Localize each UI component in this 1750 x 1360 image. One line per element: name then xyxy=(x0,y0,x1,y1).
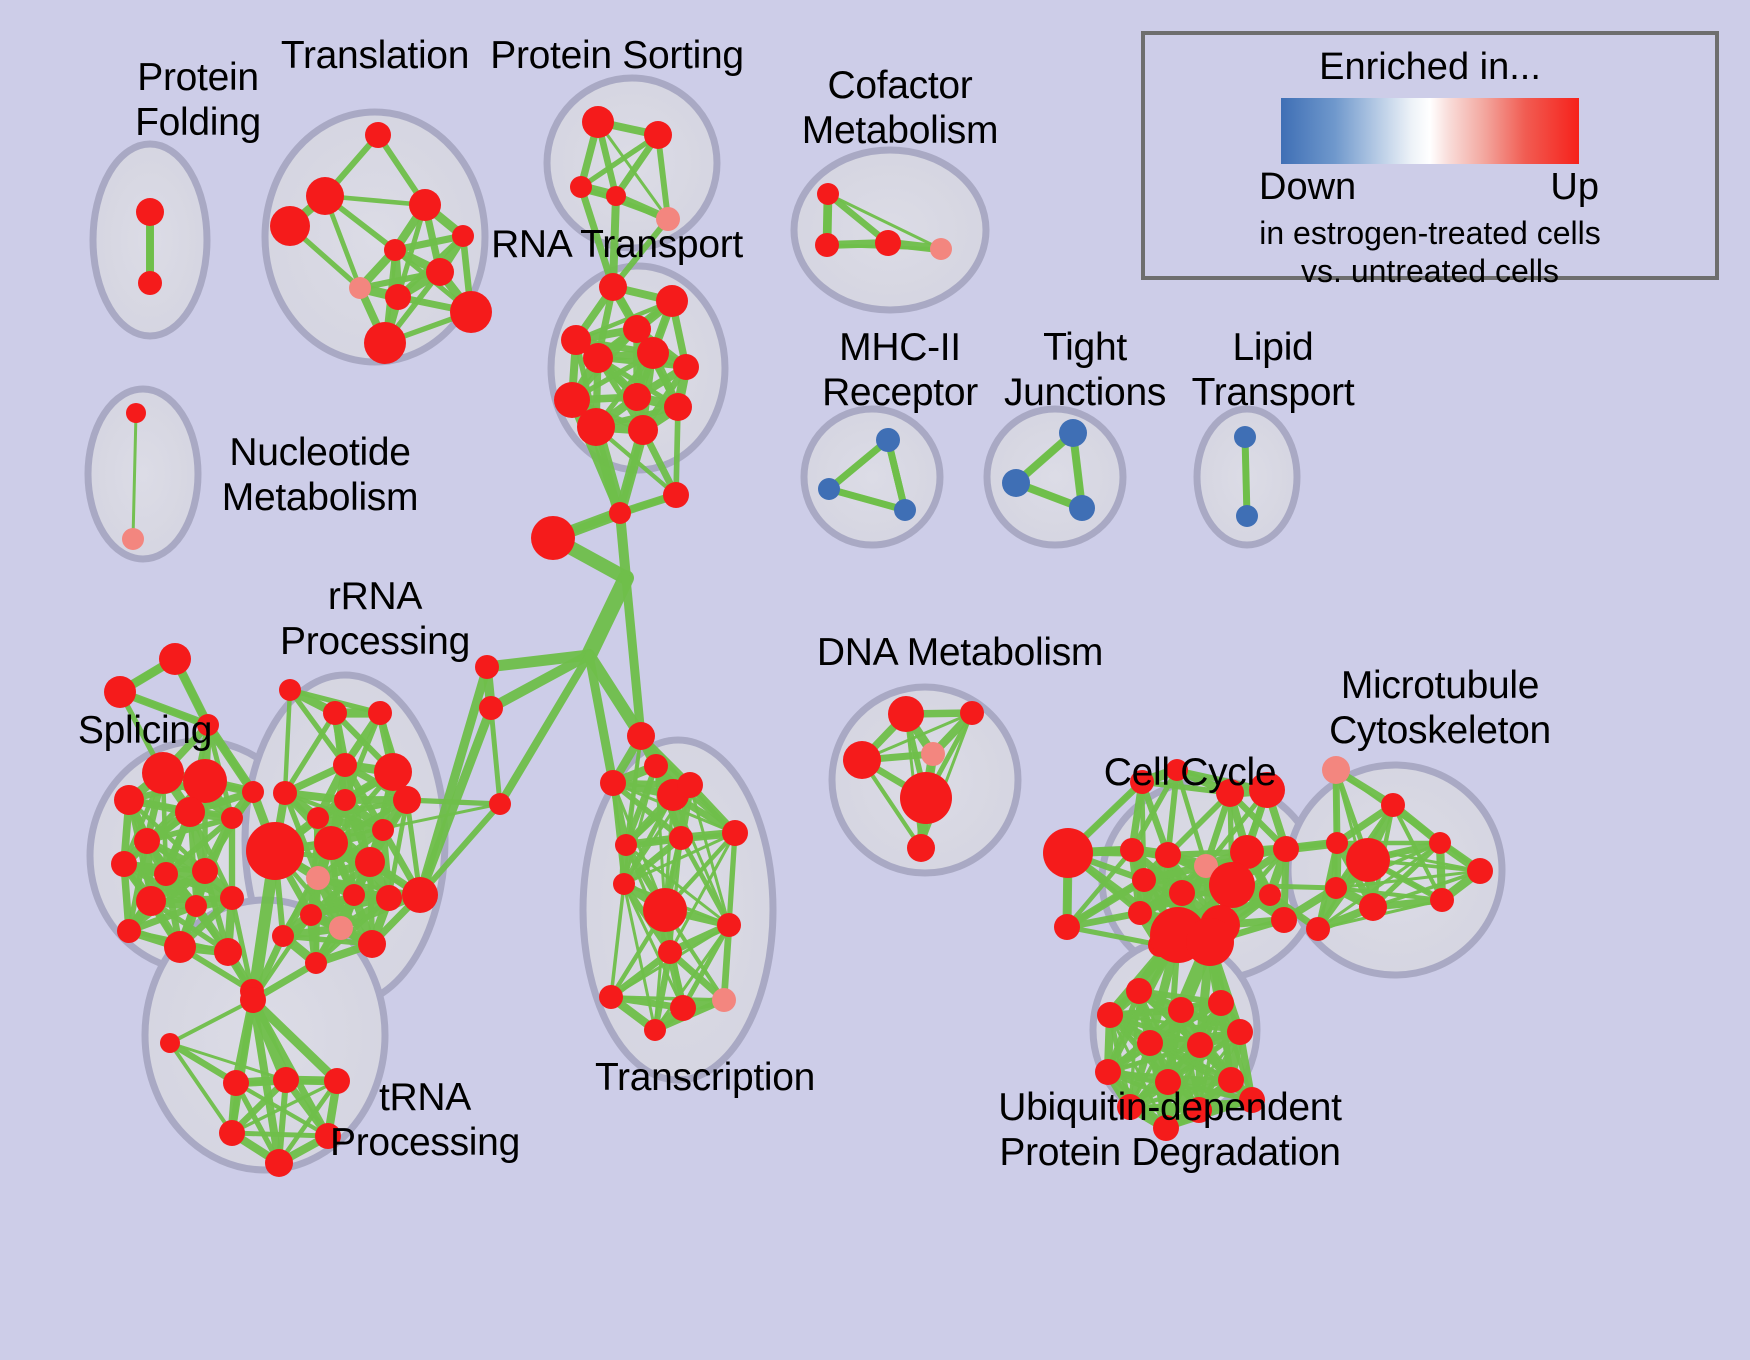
network-node[interactable] xyxy=(663,482,689,508)
network-node[interactable] xyxy=(134,828,160,854)
network-node[interactable] xyxy=(1120,838,1144,862)
network-node[interactable] xyxy=(628,415,658,445)
network-node[interactable] xyxy=(1043,828,1093,878)
network-node[interactable] xyxy=(1208,990,1234,1016)
network-node[interactable] xyxy=(329,916,353,940)
network-node[interactable] xyxy=(279,679,301,701)
network-node[interactable] xyxy=(265,1149,293,1177)
network-node[interactable] xyxy=(376,885,402,911)
network-node[interactable] xyxy=(223,1070,249,1096)
network-node[interactable] xyxy=(627,722,655,750)
network-node[interactable] xyxy=(384,239,406,261)
network-node[interactable] xyxy=(305,952,327,974)
cluster-label-rrna-processing: rRNA Processing xyxy=(250,574,500,664)
network-node[interactable] xyxy=(1097,1002,1123,1028)
cluster-label-splicing: Splicing xyxy=(55,708,235,753)
network-node[interactable] xyxy=(1326,832,1348,854)
network-node[interactable] xyxy=(599,273,627,301)
network-node[interactable] xyxy=(117,919,141,943)
network-node[interactable] xyxy=(599,985,623,1009)
network-node[interactable] xyxy=(1273,836,1299,862)
network-node[interactable] xyxy=(333,753,357,777)
network-node[interactable] xyxy=(1187,1032,1213,1058)
network-node[interactable] xyxy=(606,186,626,206)
network-node[interactable] xyxy=(1234,426,1256,448)
network-figure: Protein FoldingTranslationProtein Sortin… xyxy=(0,0,1750,1360)
network-node[interactable] xyxy=(1236,505,1258,527)
legend-title: Enriched in... xyxy=(1145,46,1715,89)
network-node[interactable] xyxy=(1306,917,1330,941)
legend-up-label: Up xyxy=(1550,166,1599,209)
cluster-label-cell-cycle: Cell Cycle xyxy=(1075,750,1305,795)
cluster-label-tight-junctions: Tight Junctions xyxy=(975,325,1195,415)
cluster-label-ubiquitin-protein-degradation: Ubiquitin-dependent Protein Degradation xyxy=(990,1085,1350,1175)
network-node[interactable] xyxy=(677,772,703,798)
network-node[interactable] xyxy=(1069,495,1095,521)
network-node[interactable] xyxy=(122,528,144,550)
network-node[interactable] xyxy=(1095,1059,1121,1085)
network-node[interactable] xyxy=(1059,419,1087,447)
network-node[interactable] xyxy=(669,826,693,850)
network-node[interactable] xyxy=(817,183,839,205)
network-node[interactable] xyxy=(644,754,668,778)
network-node[interactable] xyxy=(609,502,631,524)
network-node[interactable] xyxy=(712,988,736,1012)
network-node[interactable] xyxy=(1126,978,1152,1004)
network-node[interactable] xyxy=(815,233,839,257)
network-node[interactable] xyxy=(368,701,392,725)
network-node[interactable] xyxy=(613,873,635,895)
network-node[interactable] xyxy=(489,793,511,815)
network-node[interactable] xyxy=(1467,858,1493,884)
network-node[interactable] xyxy=(1155,842,1181,868)
legend-endpoints: Down Up xyxy=(1265,166,1595,212)
cluster-label-lipid-transport: Lipid Transport xyxy=(1163,325,1383,415)
network-node[interactable] xyxy=(643,888,687,932)
cluster-label-cofactor-metabolism: Cofactor Metabolism xyxy=(775,63,1025,153)
network-node[interactable] xyxy=(1325,877,1347,899)
network-node[interactable] xyxy=(246,822,304,880)
network-node[interactable] xyxy=(1227,1019,1253,1045)
network-node[interactable] xyxy=(921,742,945,766)
network-node[interactable] xyxy=(960,701,984,725)
network-node[interactable] xyxy=(875,230,901,256)
network-node[interactable] xyxy=(374,753,412,791)
network-node[interactable] xyxy=(1259,884,1281,906)
network-node[interactable] xyxy=(1381,793,1405,817)
legend-subtitle: in estrogen-treated cells vs. untreated … xyxy=(1145,214,1715,290)
network-node[interactable] xyxy=(717,913,741,937)
network-node[interactable] xyxy=(323,701,347,725)
network-node[interactable] xyxy=(900,772,952,824)
network-node[interactable] xyxy=(907,834,935,862)
network-node[interactable] xyxy=(306,177,344,215)
network-node[interactable] xyxy=(385,284,411,310)
network-node[interactable] xyxy=(219,1120,245,1146)
cluster-label-rna-transport: RNA Transport xyxy=(452,222,782,267)
network-node[interactable] xyxy=(138,271,162,295)
network-node[interactable] xyxy=(577,408,615,446)
network-node[interactable] xyxy=(644,1019,666,1041)
network-node[interactable] xyxy=(531,516,575,560)
network-node[interactable] xyxy=(1168,997,1194,1023)
network-node[interactable] xyxy=(185,895,207,917)
network-node[interactable] xyxy=(272,925,294,947)
network-node[interactable] xyxy=(930,238,952,260)
cluster-hull-mhc-ii-receptor xyxy=(804,409,940,545)
cluster-label-transcription: Transcription xyxy=(565,1055,845,1100)
network-edge xyxy=(491,708,500,804)
network-node[interactable] xyxy=(365,122,391,148)
network-node[interactable] xyxy=(240,987,266,1013)
network-node[interactable] xyxy=(888,696,924,732)
network-node[interactable] xyxy=(1128,901,1152,925)
cluster-label-protein-sorting: Protein Sorting xyxy=(452,33,782,78)
network-edge xyxy=(589,578,626,655)
color-scale-bar xyxy=(1281,98,1579,164)
network-node[interactable] xyxy=(372,819,394,841)
network-node[interactable] xyxy=(426,258,454,286)
network-node[interactable] xyxy=(355,847,385,877)
network-node[interactable] xyxy=(644,121,672,149)
network-node[interactable] xyxy=(349,277,371,299)
network-node[interactable] xyxy=(306,866,330,890)
network-node[interactable] xyxy=(300,904,322,926)
network-node[interactable] xyxy=(160,1033,180,1053)
network-node[interactable] xyxy=(242,781,264,803)
legend-box: Enriched in... Down Up in estrogen-treat… xyxy=(1141,31,1719,280)
network-node[interactable] xyxy=(583,343,613,373)
network-node[interactable] xyxy=(1054,914,1080,940)
network-node[interactable] xyxy=(1271,907,1297,933)
network-node[interactable] xyxy=(307,807,329,829)
network-node[interactable] xyxy=(220,886,244,910)
network-node[interactable] xyxy=(364,322,406,364)
network-node[interactable] xyxy=(114,785,144,815)
network-node[interactable] xyxy=(111,851,137,877)
network-node[interactable] xyxy=(334,789,356,811)
network-node[interactable] xyxy=(658,940,682,964)
network-node[interactable] xyxy=(175,797,205,827)
network-node[interactable] xyxy=(1132,868,1156,892)
network-node[interactable] xyxy=(343,884,365,906)
network-node[interactable] xyxy=(221,807,243,829)
network-node[interactable] xyxy=(1002,469,1030,497)
network-node[interactable] xyxy=(402,877,438,913)
network-node[interactable] xyxy=(876,428,900,452)
network-node[interactable] xyxy=(600,770,626,796)
network-node[interactable] xyxy=(142,752,184,794)
network-node[interactable] xyxy=(164,931,196,963)
cluster-label-trna-processing: tRNA Processing xyxy=(300,1075,550,1165)
network-edge xyxy=(1245,437,1247,516)
network-node[interactable] xyxy=(894,499,916,521)
network-node[interactable] xyxy=(126,403,146,423)
network-node[interactable] xyxy=(637,337,669,369)
network-node[interactable] xyxy=(656,285,688,317)
legend-down-label: Down xyxy=(1259,166,1356,209)
network-node[interactable] xyxy=(670,995,696,1021)
network-node[interactable] xyxy=(183,759,227,803)
network-node[interactable] xyxy=(214,938,242,966)
network-node[interactable] xyxy=(104,676,136,708)
cluster-label-dna-metabolism: DNA Metabolism xyxy=(800,630,1120,675)
network-node[interactable] xyxy=(159,643,191,675)
network-node[interactable] xyxy=(154,862,178,886)
network-node[interactable] xyxy=(582,106,614,138)
network-node[interactable] xyxy=(818,478,840,500)
network-node[interactable] xyxy=(270,206,310,246)
cluster-label-microtubule-cytoskeleton: Microtubule Cytoskeleton xyxy=(1290,663,1590,753)
network-node[interactable] xyxy=(136,886,166,916)
network-node[interactable] xyxy=(615,834,637,856)
network-node[interactable] xyxy=(1346,838,1390,882)
network-node[interactable] xyxy=(273,1067,299,1093)
network-node[interactable] xyxy=(722,820,748,846)
network-node[interactable] xyxy=(664,393,692,421)
network-node[interactable] xyxy=(393,786,421,814)
network-node[interactable] xyxy=(1430,888,1454,912)
network-node[interactable] xyxy=(192,858,218,884)
network-node[interactable] xyxy=(358,930,386,958)
network-node[interactable] xyxy=(136,198,164,226)
network-node[interactable] xyxy=(1359,893,1387,921)
network-node[interactable] xyxy=(1209,862,1255,908)
cluster-label-nucleotide-metabolism: Nucleotide Metabolism xyxy=(195,430,445,520)
network-node[interactable] xyxy=(450,291,492,333)
network-node[interactable] xyxy=(843,741,881,779)
network-node[interactable] xyxy=(570,176,592,198)
network-node[interactable] xyxy=(273,781,297,805)
network-node[interactable] xyxy=(314,826,348,860)
network-node[interactable] xyxy=(623,383,651,411)
network-node[interactable] xyxy=(1186,918,1234,966)
network-node[interactable] xyxy=(479,696,503,720)
network-node[interactable] xyxy=(1322,756,1350,784)
network-node[interactable] xyxy=(1429,832,1451,854)
cluster-hull-cofactor-metabolism xyxy=(794,150,986,310)
network-node[interactable] xyxy=(1137,1030,1163,1056)
network-node[interactable] xyxy=(1169,880,1195,906)
network-node[interactable] xyxy=(673,354,699,380)
network-node[interactable] xyxy=(409,189,441,221)
